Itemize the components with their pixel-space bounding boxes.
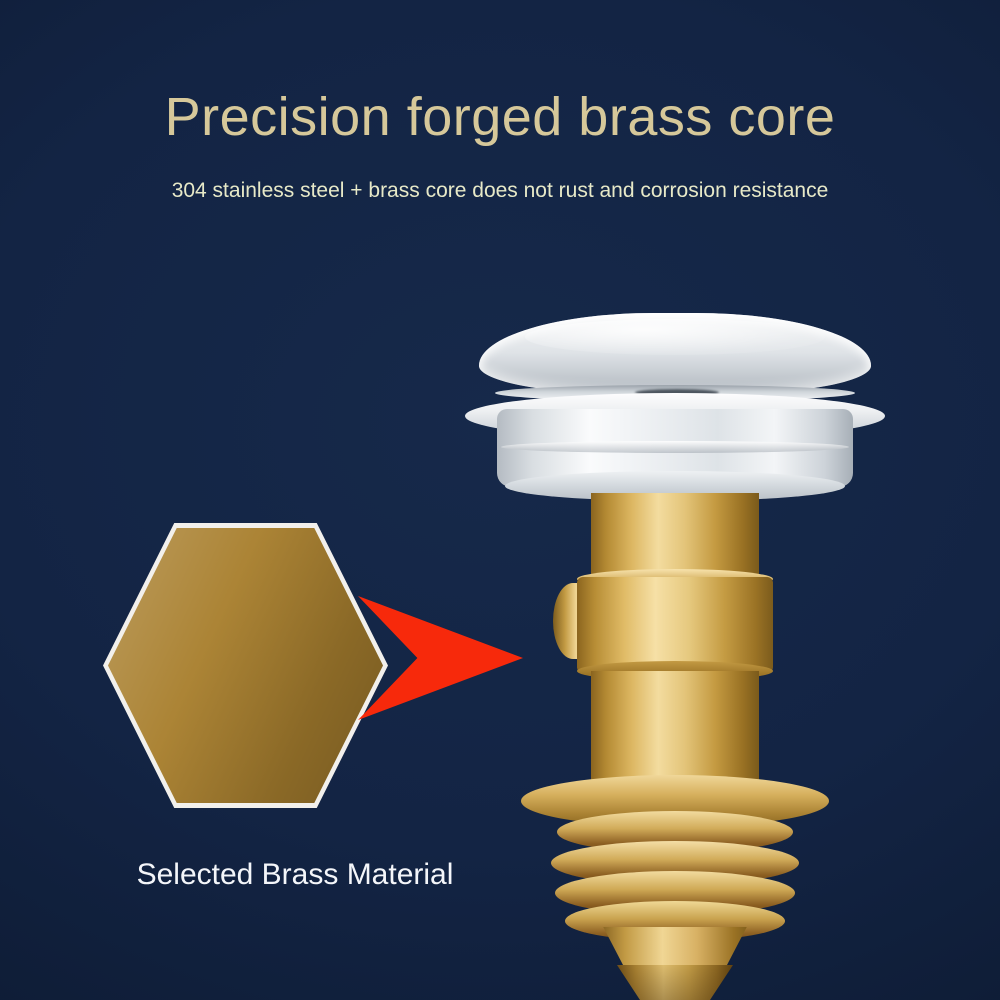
- brass-lower-shaft: [591, 671, 759, 791]
- brass-collar: [577, 577, 773, 673]
- chrome-barrel-ring: [501, 441, 849, 453]
- material-caption: Selected Brass Material: [60, 858, 530, 892]
- page-title: Precision forged brass core: [0, 88, 1000, 146]
- material-swatch-hexagon: [103, 523, 388, 808]
- product-marketing-banner: Precision forged brass core 304 stainles…: [0, 0, 1000, 1000]
- photo-sheen-overlay: [108, 528, 383, 803]
- tip-shading: [617, 965, 733, 1000]
- page-subtitle: 304 stainless steel + brass core does no…: [0, 178, 1000, 203]
- product-image: [465, 305, 885, 985]
- dome-highlight: [525, 319, 825, 355]
